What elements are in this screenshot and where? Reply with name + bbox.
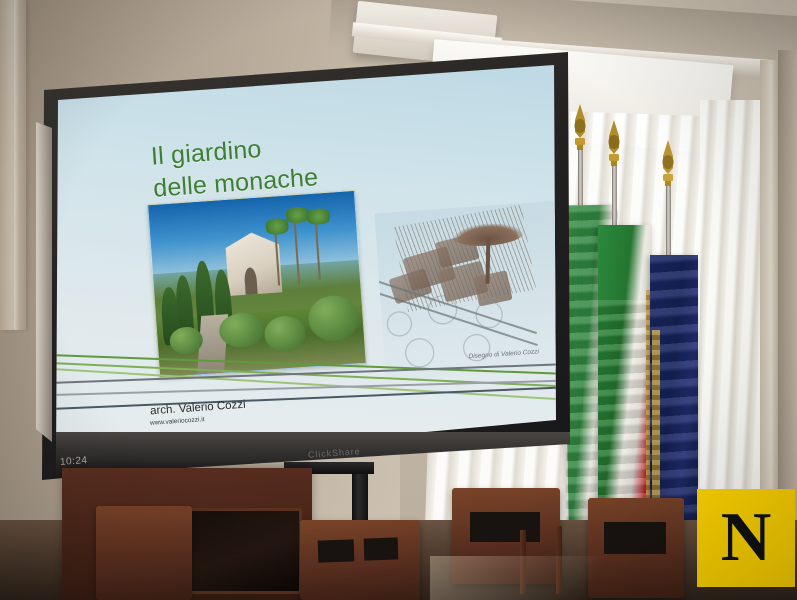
wall-pilaster-highlight (14, 0, 19, 330)
table-reflection (430, 556, 660, 600)
flag-finial-europe (658, 140, 678, 186)
chair-back-opening (604, 522, 666, 554)
flag-finial-left (570, 104, 590, 150)
slide-photo-villa-garden (147, 190, 367, 378)
tv-screen[interactable]: Il giardino delle monache (40, 52, 570, 480)
flag-finial-center (604, 120, 624, 166)
chair-back (96, 506, 192, 600)
drawing-tree-trunk (486, 238, 491, 284)
watermark-logo: N (697, 489, 795, 587)
clickshare-label: ClickShare (308, 446, 361, 460)
photo-scene: Il giardino delle monache (0, 0, 797, 600)
slide-accent-line-dark (50, 386, 570, 409)
presentation-slide: Il giardino delle monache (40, 52, 570, 480)
slide-footer-url: www.valeriocozzi.it (150, 416, 205, 427)
wall-pilaster (0, 0, 26, 330)
slide-footer-name: arch. Valerio Cozzi (150, 399, 246, 418)
slide-accent-line-gray (50, 379, 570, 395)
television[interactable]: Il giardino delle monache (40, 52, 570, 480)
flag-europe-gold-trim (652, 330, 660, 520)
watermark-letter: N (697, 489, 795, 587)
slide-drawing-garden-sketch: Disegno di Valerio Cozzi (374, 201, 565, 381)
tv-side-edge (36, 122, 52, 442)
credenza-top (58, 466, 316, 480)
window-jamb-outer (778, 50, 797, 530)
chair-back-opening (470, 512, 540, 542)
